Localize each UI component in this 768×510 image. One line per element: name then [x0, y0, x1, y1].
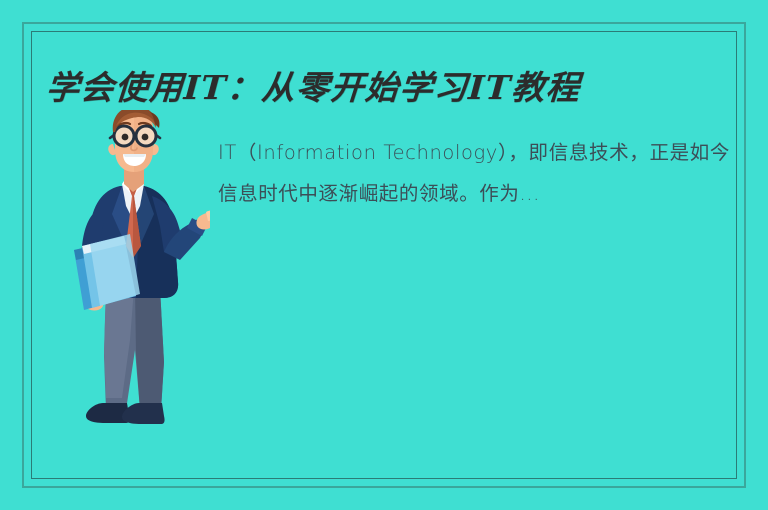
trousers-shape: [104, 288, 164, 410]
page-title: 学会使用IT：从零开始学习IT教程: [44, 62, 708, 114]
tutorial-card: 学会使用IT：从零开始学习IT教程 IT（Information Technol…: [0, 0, 768, 510]
shoes-shape: [86, 403, 165, 424]
illustration-businessman: [60, 110, 210, 435]
body-paragraph: IT（Information Technology），即信息技术，正是如今信息时…: [218, 132, 730, 214]
